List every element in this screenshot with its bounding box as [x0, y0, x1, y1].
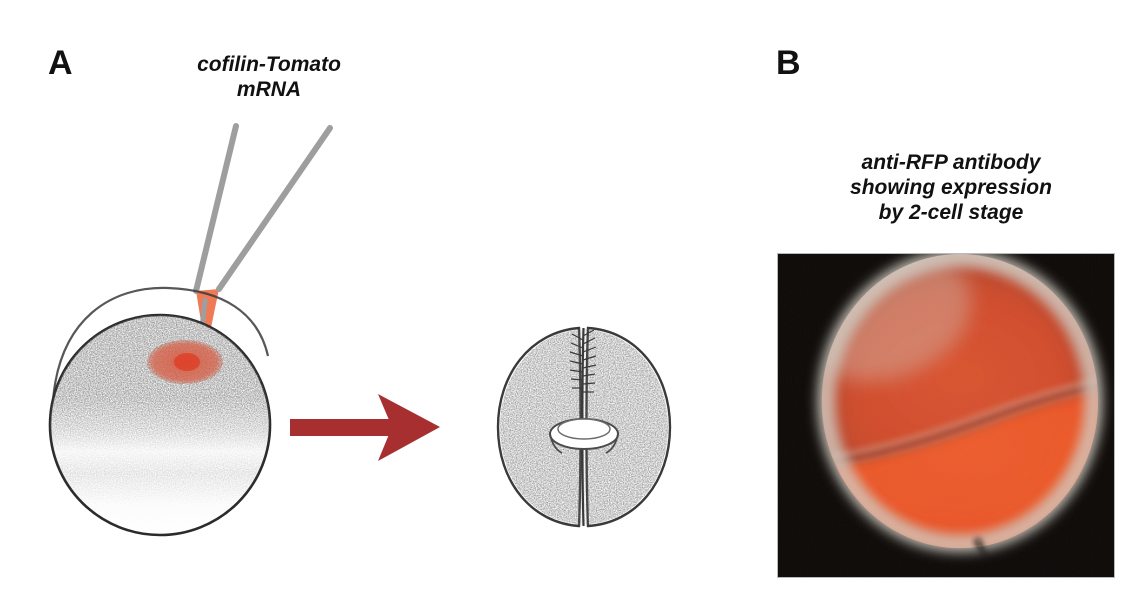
transition-arrow-icon	[290, 394, 440, 461]
panel-b-label: B	[776, 46, 801, 80]
injection-pipette-icon	[196, 126, 330, 356]
micrograph-caption: anti-RFP antibody showing expression by …	[806, 150, 1096, 225]
arrow-shaft	[290, 419, 398, 436]
micrograph-panel	[777, 253, 1115, 578]
panel-a-diagram	[0, 0, 760, 612]
pipette-wall-left	[196, 126, 236, 291]
figure-root: A cofilin-Tomato mRNA	[0, 0, 1148, 612]
pipette-wall-right	[219, 128, 330, 289]
one-cell-embryo	[50, 288, 270, 535]
micrograph-grain	[778, 254, 1114, 577]
two-cell-embryo	[498, 328, 670, 526]
injection-bolus-stipple	[147, 340, 223, 384]
fluorescence-micrograph	[778, 254, 1114, 577]
